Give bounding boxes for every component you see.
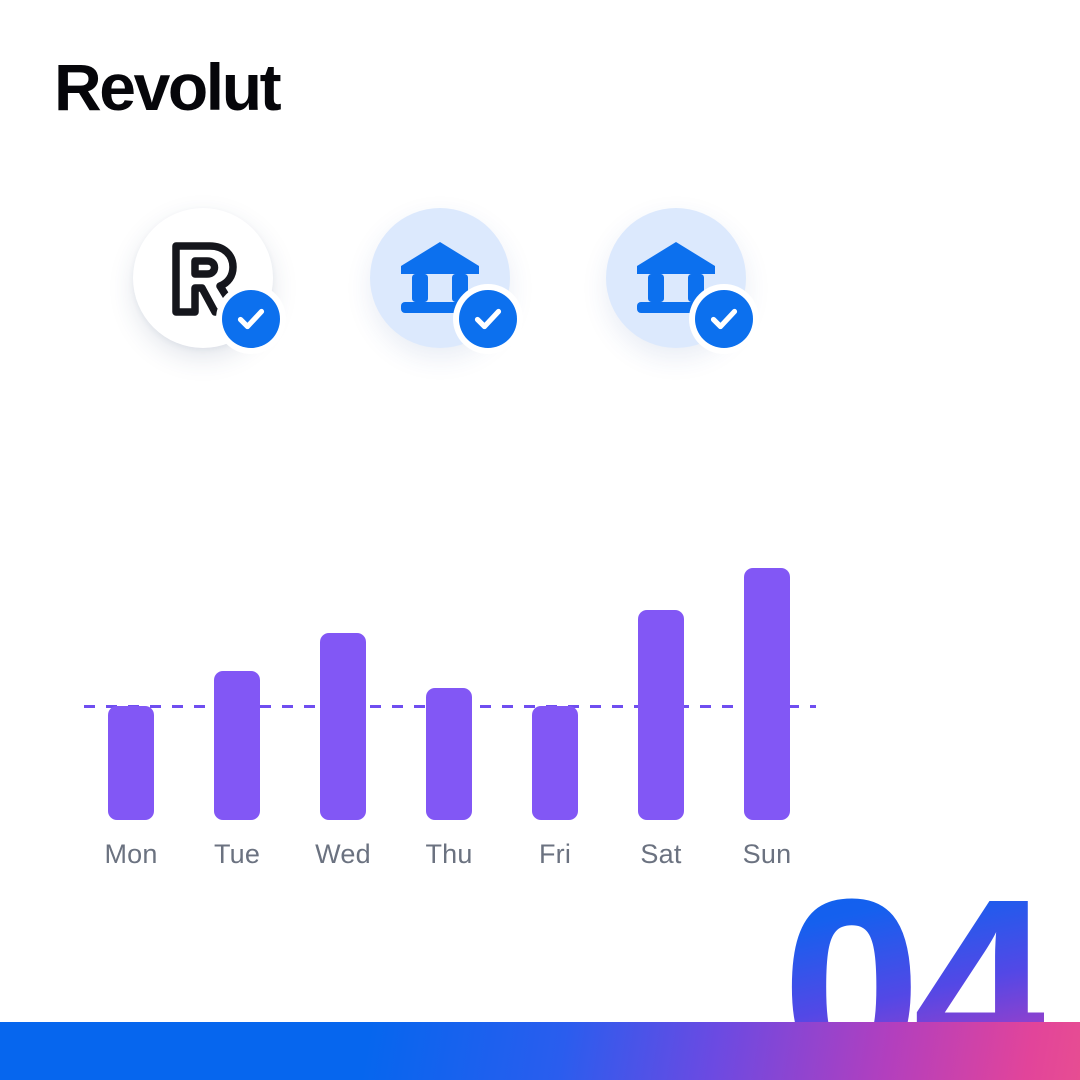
account-badge-revolut[interactable]	[133, 208, 273, 348]
bar-thu[interactable]	[426, 688, 472, 820]
bar-sat[interactable]	[638, 610, 684, 820]
bar-mon[interactable]	[108, 706, 154, 820]
verified-badge	[453, 284, 523, 354]
bar-label-tue: Tue	[182, 838, 292, 870]
bar-label-fri: Fri	[500, 838, 610, 870]
account-badge-bank-2[interactable]	[606, 208, 746, 348]
bar-label-mon: Mon	[76, 838, 186, 870]
verified-circle	[695, 290, 753, 348]
bar-tue[interactable]	[214, 671, 260, 820]
chart-plot-area	[84, 548, 816, 820]
brand-wordmark: Revolut	[54, 54, 279, 120]
check-icon	[234, 302, 268, 336]
bar-label-thu: Thu	[394, 838, 504, 870]
bar-label-sat: Sat	[606, 838, 716, 870]
slide-canvas: Revolut	[0, 0, 1080, 1080]
verified-badge	[689, 284, 759, 354]
verified-circle	[222, 290, 280, 348]
bar-fri[interactable]	[532, 706, 578, 820]
bar-sun[interactable]	[744, 568, 790, 820]
footer-gradient-bar	[0, 1022, 1080, 1080]
verified-badge	[216, 284, 286, 354]
account-badge-bank-1[interactable]	[370, 208, 510, 348]
linked-accounts-row	[133, 208, 833, 408]
check-icon	[707, 302, 741, 336]
bar-wed[interactable]	[320, 633, 366, 820]
check-icon	[471, 302, 505, 336]
bar-label-wed: Wed	[288, 838, 398, 870]
verified-circle	[459, 290, 517, 348]
